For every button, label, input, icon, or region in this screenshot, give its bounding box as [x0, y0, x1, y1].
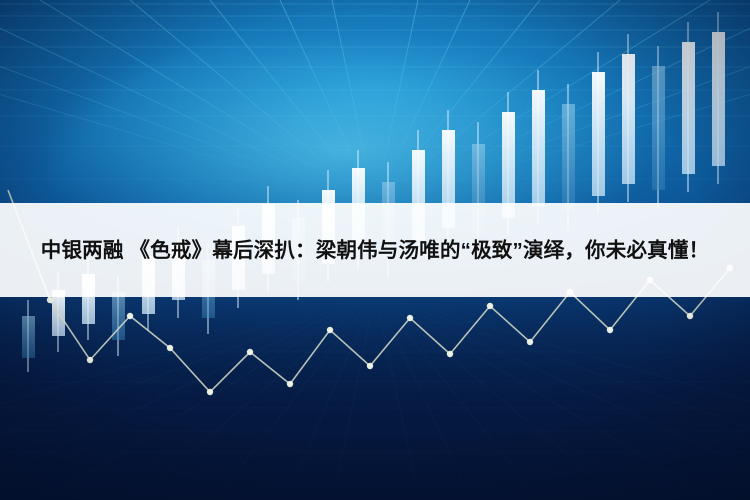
- caption-text: 中银两融 《色戒》幕后深扒：梁朝伟与汤唯的“极致”演绎，你未必真懂！: [33, 233, 718, 268]
- image-canvas: 中银两融 《色戒》幕后深扒：梁朝伟与汤唯的“极致”演绎，你未必真懂！: [0, 0, 750, 500]
- caption-overlay-band: 中银两融 《色戒》幕后深扒：梁朝伟与汤唯的“极致”演绎，你未必真懂！: [0, 203, 750, 297]
